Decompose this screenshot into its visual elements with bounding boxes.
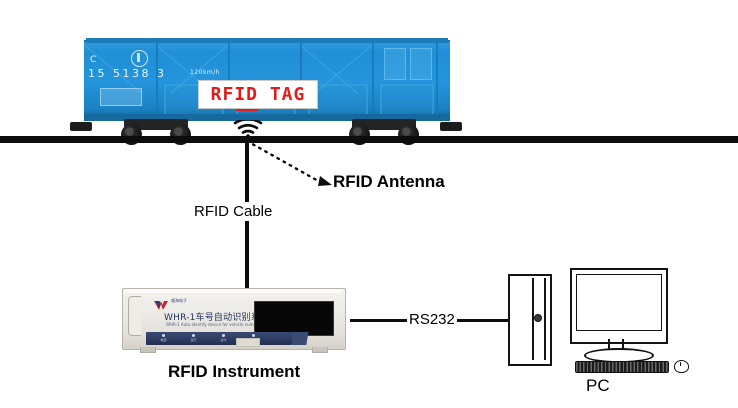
rfid-antenna-icon — [233, 120, 263, 138]
indicator-label: 电源 — [160, 338, 166, 342]
rfid-tag-label: RFID TAG — [198, 80, 318, 109]
wagon-hatch — [410, 48, 432, 80]
indicator-led — [252, 334, 255, 337]
wagon-top-cap — [86, 38, 448, 43]
instrument-foot — [312, 347, 328, 353]
railway-emblem-icon — [131, 50, 148, 67]
wagon-class-code: C — [90, 55, 97, 65]
wagon-data-plate — [100, 88, 142, 106]
rfid-instrument-label: RFID Instrument — [168, 362, 300, 382]
wagon-speed-rating: 120km/h — [190, 69, 220, 76]
indicator-label: 运行 — [190, 338, 196, 342]
instrument-vent — [236, 338, 260, 347]
rfid-cable-label: RFID Cable — [190, 202, 276, 221]
instrument-handle — [128, 296, 141, 336]
pc-power-button-icon — [534, 314, 542, 322]
indicator-label: 读卡 — [220, 338, 226, 342]
wagon-panel-divider — [436, 42, 438, 116]
pc-monitor — [570, 268, 668, 344]
wagon-door-panel — [380, 84, 434, 116]
pc-keyboard — [575, 361, 669, 373]
indicator-led — [162, 334, 165, 337]
pc-tower — [508, 274, 552, 366]
wagon-coupler — [70, 122, 92, 131]
manufacturer-brand-text: 威海电子 — [171, 298, 187, 304]
instrument-display-screen — [254, 301, 334, 336]
manufacturer-logo-icon — [154, 297, 168, 306]
rfid-instrument: 威海电子 WHR-1车号自动识别系统 WHR-1 Auto-identify d… — [122, 288, 344, 354]
wagon-panel-divider — [372, 42, 374, 116]
indicator-led — [222, 334, 225, 337]
wagon-hatch — [384, 48, 406, 80]
instrument-top-edge — [124, 289, 342, 293]
rs232-label: RS232 — [407, 311, 457, 328]
rail-line — [0, 136, 738, 143]
wagon-coupler — [440, 122, 462, 131]
pc-label: PC — [586, 376, 610, 396]
pc-monitor-screen — [576, 274, 662, 331]
rfid-antenna-label: RFID Antenna — [333, 172, 445, 192]
pc-workstation — [508, 268, 698, 378]
wagon-car-number: 15 5138 3 — [88, 67, 166, 80]
instrument-foot — [140, 347, 156, 353]
indicator-led — [192, 334, 195, 337]
pc-mouse — [674, 360, 689, 373]
instrument-indicator-strip: 电源 运行 读卡 通讯 — [146, 332, 292, 345]
railway-freight-wagon: C 15 5138 3 120km/h — [84, 36, 450, 122]
instrument-subtitle-en: WHR-1 Auto-identify device for vehicle n… — [166, 322, 260, 327]
rfid-system-diagram: C 15 5138 3 120km/h RFID TAG — [0, 0, 738, 408]
